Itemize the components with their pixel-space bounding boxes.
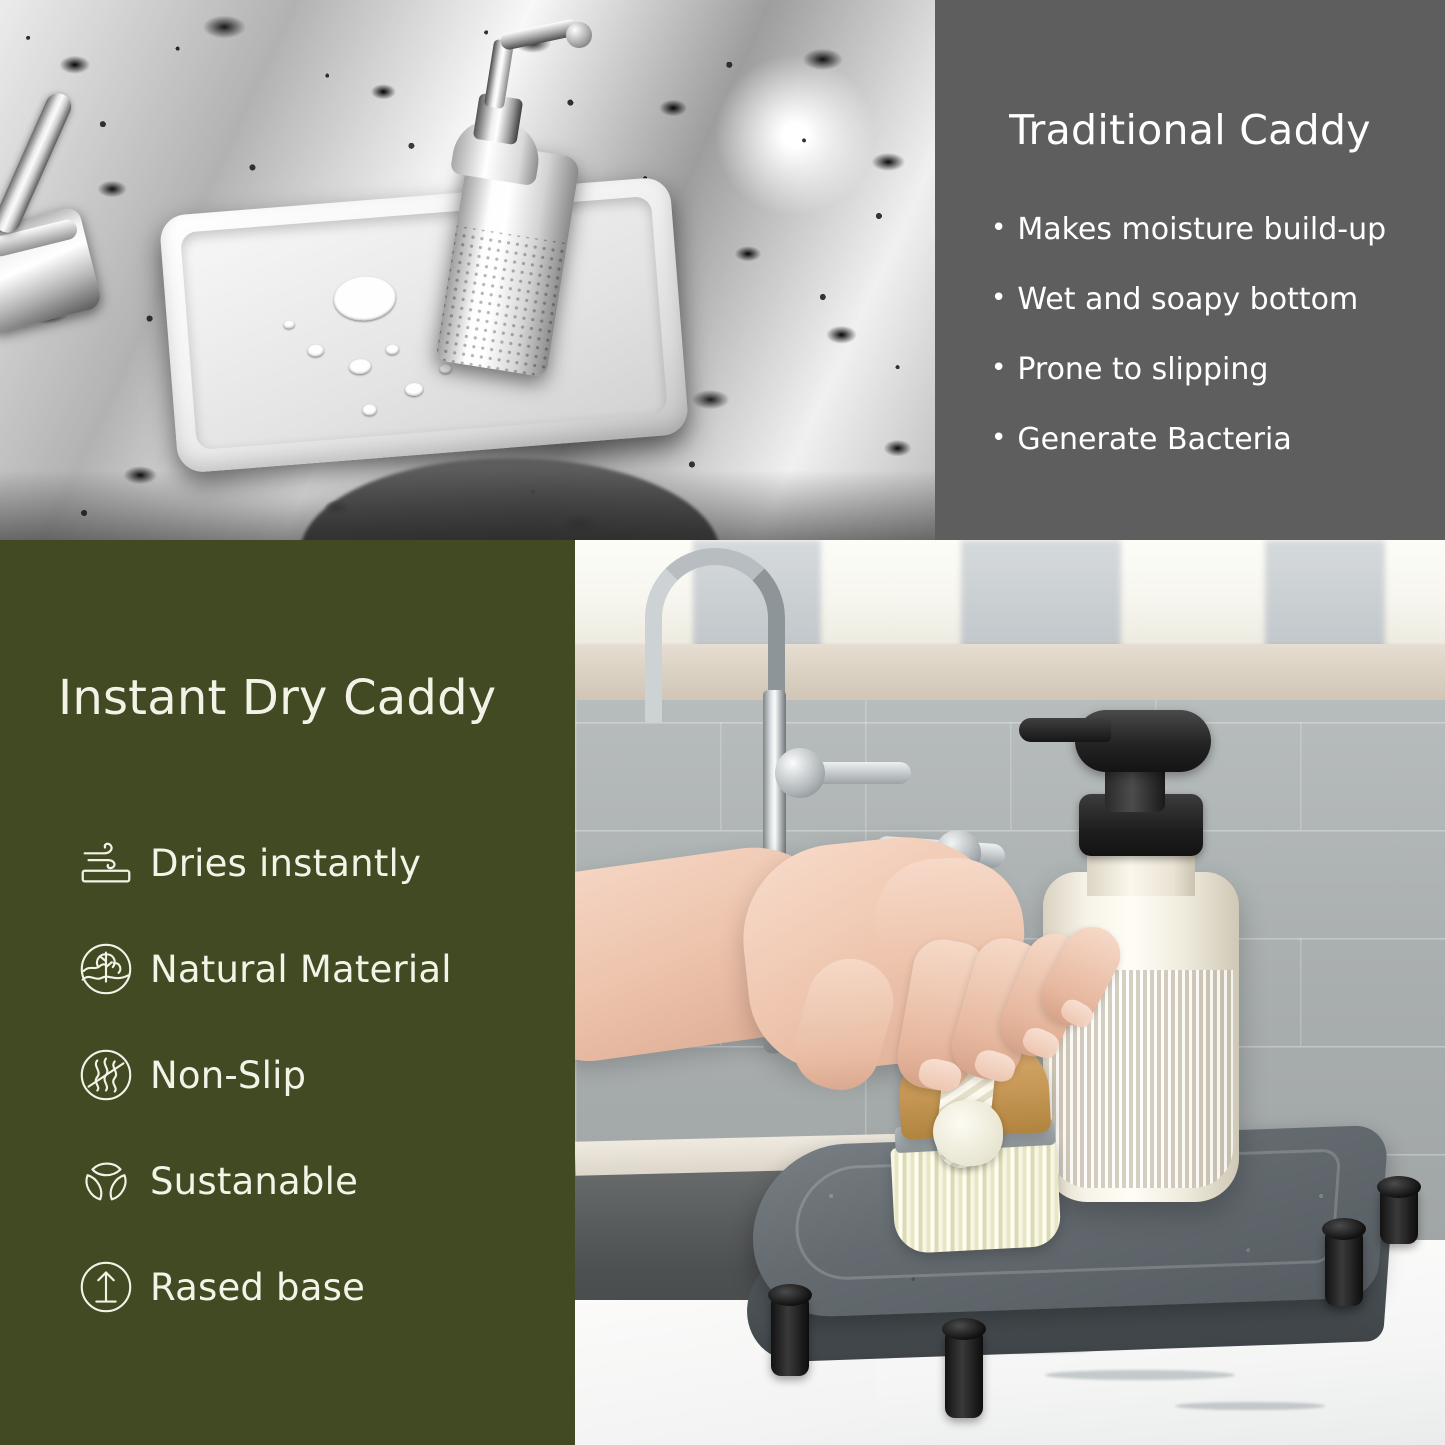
marble-vein (1175, 1402, 1325, 1410)
water-puddle (332, 274, 397, 323)
tree-landscape-circle-icon (62, 938, 150, 1000)
water-droplet (385, 344, 399, 355)
list-item: • Generate Bacteria (991, 422, 1445, 458)
tray-foot-cap (942, 1318, 986, 1340)
tray-foot-cap (1377, 1176, 1421, 1198)
faucet-handle-knob (775, 748, 825, 798)
no-slip-waves-circle-icon (62, 1044, 150, 1106)
up-arrow-height-circle-icon (62, 1256, 150, 1318)
dish-brush-rope-knot (933, 1100, 1003, 1166)
list-item-label: Makes moisture build-up (1017, 212, 1386, 248)
water-droplet (405, 382, 424, 396)
list-item-label: Prone to slipping (1017, 352, 1268, 388)
water-droplet (307, 344, 324, 357)
counter-front-edge (0, 470, 935, 540)
list-item: Rased base (62, 1234, 572, 1340)
marble-vein (1045, 1370, 1235, 1380)
white-ceramic-tray (159, 176, 690, 473)
tray-foot (771, 1296, 809, 1376)
list-item: • Makes moisture build-up (991, 212, 1445, 248)
list-item-label: Wet and soapy bottom (1017, 282, 1358, 318)
list-item: Dries instantly (62, 810, 572, 916)
list-item: • Wet and soapy bottom (991, 282, 1445, 318)
list-item: Non-Slip (62, 1022, 572, 1128)
dispenser-dot-texture (435, 226, 567, 378)
tray-well (180, 196, 668, 450)
traditional-caddy-photo (0, 0, 935, 540)
feature-label: Natural Material (150, 948, 452, 991)
instant-dry-caddy-panel: Instant Dry Caddy Dries instantly (0, 540, 575, 1445)
tray-foot (1325, 1230, 1363, 1306)
water-droplet (439, 364, 452, 374)
feature-label: Non-Slip (150, 1054, 306, 1097)
bullet-icon: • (991, 212, 1006, 245)
list-item: Sustanable (62, 1128, 572, 1234)
bullet-icon: • (991, 282, 1006, 315)
three-leaves-recycle-icon (62, 1150, 150, 1212)
window-building (1265, 540, 1385, 652)
traditional-caddy-title: Traditional Caddy (935, 106, 1445, 154)
feature-label: Dries instantly (150, 842, 421, 885)
window-building (961, 540, 1121, 652)
feature-label: Sustanable (150, 1160, 358, 1203)
product-comparison-infographic: Traditional Caddy • Makes moisture build… (0, 0, 1445, 1445)
dispenser-pump-tip (566, 22, 592, 48)
feature-label: Rased base (150, 1266, 365, 1309)
tray-foot-cap (1322, 1218, 1366, 1240)
traditional-caddy-panel: Traditional Caddy • Makes moisture build… (935, 0, 1445, 540)
instant-dry-feature-list: Dries instantly Natural Ma (62, 810, 572, 1340)
tray-foot-cap (768, 1284, 812, 1306)
bullet-icon: • (991, 352, 1006, 385)
list-item: Natural Material (62, 916, 572, 1022)
air-dry-bar-icon (62, 832, 150, 894)
water-droplet (349, 358, 372, 375)
water-droplet (283, 320, 295, 329)
list-item: • Prone to slipping (991, 352, 1445, 388)
instant-dry-caddy-title: Instant Dry Caddy (58, 670, 558, 726)
water-droplet (362, 404, 377, 416)
tray-foot (945, 1330, 983, 1418)
instant-dry-caddy-photo (575, 540, 1445, 1445)
bullet-icon: • (991, 422, 1006, 455)
traditional-caddy-drawback-list: • Makes moisture build-up • Wet and soap… (991, 212, 1445, 492)
dispenser-pump-spout (1019, 718, 1111, 742)
list-item-label: Generate Bacteria (1017, 422, 1291, 458)
